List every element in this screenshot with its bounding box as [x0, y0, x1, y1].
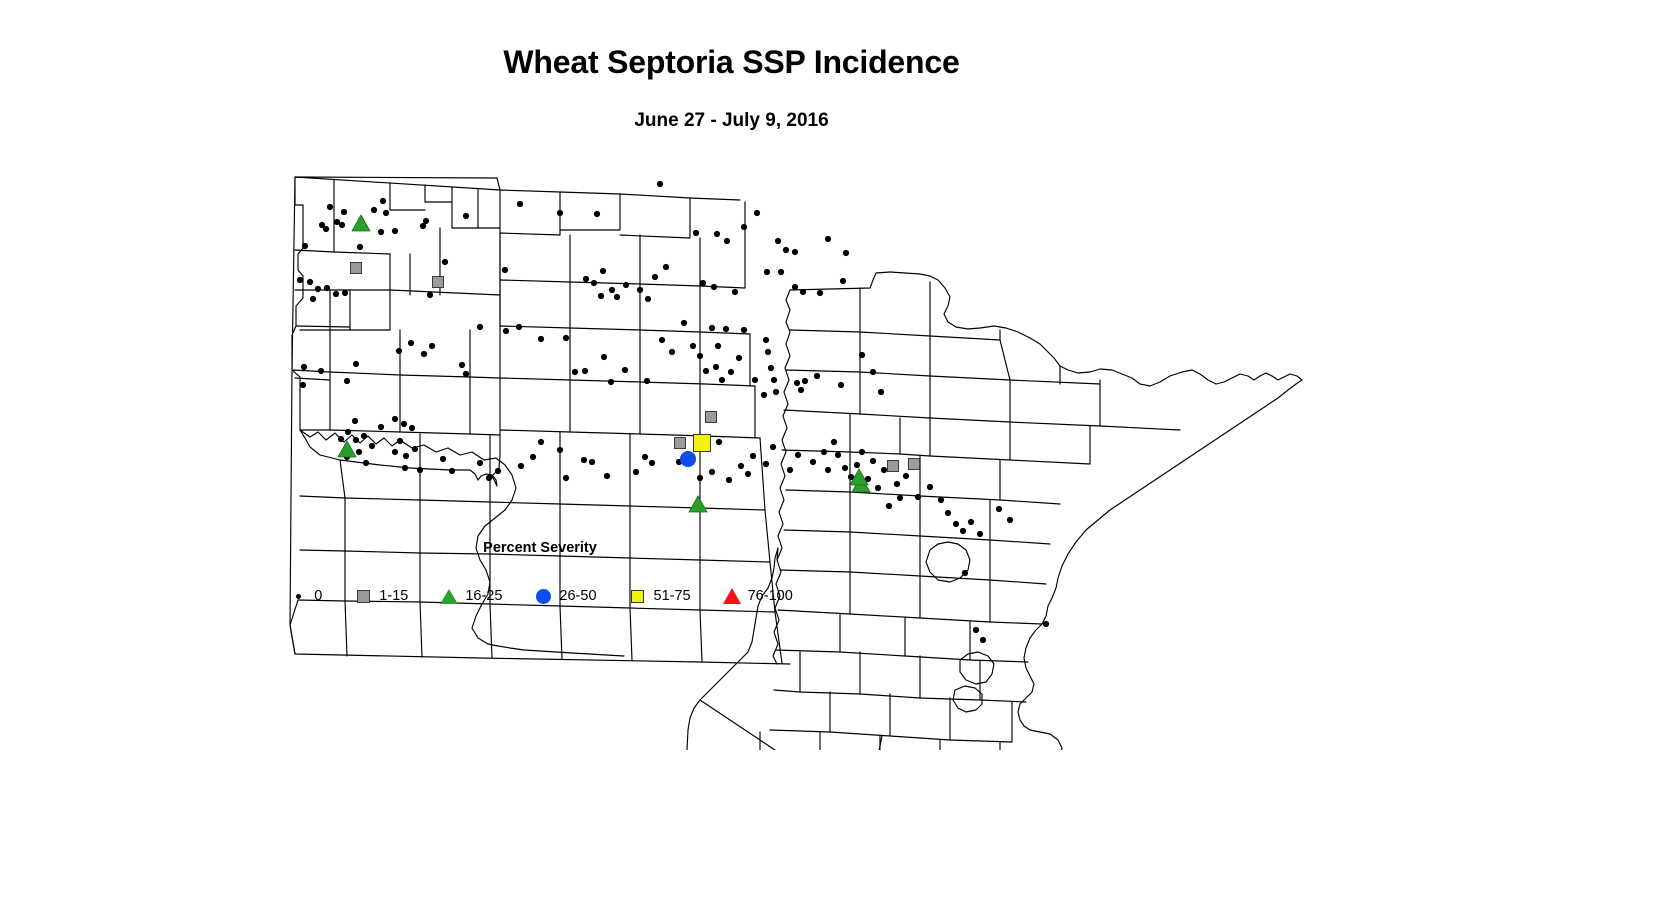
map-marker-0[interactable]	[854, 462, 860, 468]
map-marker-0[interactable]	[765, 349, 771, 355]
map-marker-0[interactable]	[736, 355, 742, 361]
map-marker-0[interactable]	[380, 198, 386, 204]
map-marker-0[interactable]	[297, 277, 303, 283]
map-marker-0[interactable]	[817, 290, 823, 296]
map-marker-0[interactable]	[608, 379, 614, 385]
map-marker-0[interactable]	[333, 291, 339, 297]
map-marker-0[interactable]	[681, 320, 687, 326]
county-boundaries	[290, 177, 1302, 750]
map-marker-0[interactable]	[968, 519, 974, 525]
map-marker-0[interactable]	[754, 210, 760, 216]
map-marker-0[interactable]	[397, 438, 403, 444]
map-marker-0[interactable]	[838, 382, 844, 388]
map-marker-0[interactable]	[773, 389, 779, 395]
map-marker-0[interactable]	[741, 224, 747, 230]
map-marker-0[interactable]	[724, 238, 730, 244]
map-marker-0[interactable]	[962, 570, 968, 576]
map-marker-0[interactable]	[792, 249, 798, 255]
map-marker-0[interactable]	[344, 378, 350, 384]
map-marker-0[interactable]	[945, 510, 951, 516]
map-marker-0[interactable]	[897, 495, 903, 501]
map-marker-0[interactable]	[341, 209, 347, 215]
dot-icon	[287, 586, 309, 606]
map-marker-0[interactable]	[315, 286, 321, 292]
map-marker-16-25[interactable]	[352, 215, 370, 231]
map-marker-0[interactable]	[572, 369, 578, 375]
map-marker-0[interactable]	[814, 373, 820, 379]
map-marker-0[interactable]	[412, 446, 418, 452]
map-marker-0[interactable]	[709, 325, 715, 331]
map-marker-0[interactable]	[392, 449, 398, 455]
map-marker-0[interactable]	[324, 285, 330, 291]
map-marker-0[interactable]	[825, 236, 831, 242]
map-marker-0[interactable]	[697, 475, 703, 481]
map-marker-0[interactable]	[633, 469, 639, 475]
map-marker-0[interactable]	[338, 436, 344, 442]
map-marker-0[interactable]	[738, 463, 744, 469]
legend-item-76-100[interactable]: 76-100	[721, 586, 793, 606]
legend-item-label: 0	[314, 588, 322, 604]
map-marker-1-15[interactable]	[706, 412, 717, 423]
map-marker-0[interactable]	[301, 364, 307, 370]
map-marker-0[interactable]	[423, 218, 429, 224]
map-marker-0[interactable]	[403, 453, 409, 459]
map-marker-0[interactable]	[842, 465, 848, 471]
map-marker-0[interactable]	[825, 467, 831, 473]
map-marker-0[interactable]	[787, 467, 793, 473]
map-marker-0[interactable]	[583, 276, 589, 282]
legend-item-label: 51-75	[654, 588, 691, 604]
map-marker-0[interactable]	[378, 229, 384, 235]
map-marker-0[interactable]	[352, 418, 358, 424]
map-marker-0[interactable]	[530, 454, 536, 460]
map-marker-0[interactable]	[764, 269, 770, 275]
map-marker-0[interactable]	[345, 429, 351, 435]
map-marker-0[interactable]	[709, 469, 715, 475]
map-marker-0[interactable]	[463, 371, 469, 377]
map-marker-0[interactable]	[915, 494, 921, 500]
map-marker-0[interactable]	[716, 439, 722, 445]
map-marker-0[interactable]	[557, 447, 563, 453]
map-marker-0[interactable]	[723, 326, 729, 332]
map-marker-0[interactable]	[408, 340, 414, 346]
map-marker-0[interactable]	[1043, 621, 1049, 627]
map-marker-0[interactable]	[881, 467, 887, 473]
map-marker-0[interactable]	[417, 467, 423, 473]
map-marker-0[interactable]	[622, 367, 628, 373]
map-marker-0[interactable]	[953, 521, 959, 527]
map-marker-0[interactable]	[645, 296, 651, 302]
map-marker-0[interactable]	[594, 211, 600, 217]
map-marker-0[interactable]	[518, 463, 524, 469]
map-marker-0[interactable]	[728, 369, 734, 375]
map-marker-0[interactable]	[614, 294, 620, 300]
map-marker-0[interactable]	[601, 354, 607, 360]
map-marker-0[interactable]	[383, 210, 389, 216]
map-marker-0[interactable]	[693, 230, 699, 236]
map-marker-0[interactable]	[652, 274, 658, 280]
map-marker-26-50[interactable]	[680, 451, 696, 467]
map-marker-0[interactable]	[798, 387, 804, 393]
legend-item-label: 1-15	[379, 588, 408, 604]
map-marker-0[interactable]	[843, 250, 849, 256]
map-marker-0[interactable]	[903, 473, 909, 479]
square-yellow-icon	[627, 586, 649, 606]
map-marker-0[interactable]	[486, 475, 492, 481]
map-marker-51-75[interactable]	[694, 435, 711, 452]
square-gray-icon	[352, 586, 374, 606]
map-marker-0[interactable]	[396, 348, 402, 354]
map-marker-0[interactable]	[703, 368, 709, 374]
map-marker-0[interactable]	[732, 289, 738, 295]
map-marker-0[interactable]	[870, 369, 876, 375]
map-marker-0[interactable]	[449, 468, 455, 474]
map-marker-0[interactable]	[878, 389, 884, 395]
map-marker-1-15[interactable]	[675, 438, 686, 449]
legend-title: Percent Severity	[0, 540, 1080, 556]
map-marker-0[interactable]	[302, 243, 308, 249]
legend-item-label: 76-100	[748, 588, 793, 604]
map-marker-0[interactable]	[477, 460, 483, 466]
circle-blue-icon	[532, 586, 554, 606]
map-marker-0[interactable]	[768, 365, 774, 371]
map-marker-0[interactable]	[356, 449, 362, 455]
map-marker-1-15[interactable]	[433, 277, 444, 288]
map-marker-0[interactable]	[429, 343, 435, 349]
map-marker-0[interactable]	[563, 475, 569, 481]
map-marker-0[interactable]	[644, 378, 650, 384]
map-marker-0[interactable]	[591, 280, 597, 286]
map-marker-0[interactable]	[310, 296, 316, 302]
map-marker-0[interactable]	[711, 284, 717, 290]
map-container[interactable]	[0, 130, 1400, 750]
map-marker-0[interactable]	[810, 459, 816, 465]
map-marker-0[interactable]	[307, 279, 313, 285]
map-marker-0[interactable]	[409, 425, 415, 431]
page-title: Wheat Septoria SSP Incidence	[0, 44, 1463, 81]
map-marker-0[interactable]	[361, 433, 367, 439]
map-marker-0[interactable]	[980, 637, 986, 643]
map-marker-0[interactable]	[442, 259, 448, 265]
legend-item-1-15[interactable]: 1-15	[352, 586, 408, 606]
map-marker-0[interactable]	[604, 473, 610, 479]
map-marker-0[interactable]	[792, 284, 798, 290]
map-marker-0[interactable]	[318, 368, 324, 374]
map-marker-0[interactable]	[938, 497, 944, 503]
map-marker-0[interactable]	[392, 416, 398, 422]
map-marker-0[interactable]	[339, 222, 345, 228]
map-marker-0[interactable]	[353, 437, 359, 443]
legend-item-51-75[interactable]: 51-75	[627, 586, 691, 606]
map-marker-0[interactable]	[503, 328, 509, 334]
map-marker-0[interactable]	[516, 324, 522, 330]
map-marker-0[interactable]	[750, 453, 756, 459]
legend-item-label: 16-25	[465, 588, 502, 604]
map-marker-0[interactable]	[363, 460, 369, 466]
map-marker-0[interactable]	[859, 352, 865, 358]
map-marker-0[interactable]	[875, 485, 881, 491]
map-marker-0[interactable]	[927, 484, 933, 490]
map-marker-0[interactable]	[598, 293, 604, 299]
map-marker-0[interactable]	[323, 226, 329, 232]
map-marker-0[interactable]	[459, 362, 465, 368]
map-marker-0[interactable]	[795, 452, 801, 458]
map-marker-0[interactable]	[996, 506, 1002, 512]
map-marker-0[interactable]	[783, 247, 789, 253]
map-marker-0[interactable]	[715, 343, 721, 349]
map-marker-0[interactable]	[775, 238, 781, 244]
map-marker-0[interactable]	[1007, 517, 1013, 523]
map-marker-0[interactable]	[609, 287, 615, 293]
map-marker-0[interactable]	[327, 204, 333, 210]
map-marker-0[interactable]	[581, 457, 587, 463]
map-marker-1-15[interactable]	[351, 263, 362, 274]
map-marker-0[interactable]	[763, 461, 769, 467]
map-marker-0[interactable]	[623, 282, 629, 288]
map-marker-0[interactable]	[300, 382, 306, 388]
map-marker-0[interactable]	[649, 460, 655, 466]
map-marker-0[interactable]	[642, 454, 648, 460]
map-marker-0[interactable]	[378, 424, 384, 430]
legend-item-26-50[interactable]: 26-50	[532, 586, 596, 606]
map-marker-0[interactable]	[726, 477, 732, 483]
map-marker-0[interactable]	[714, 231, 720, 237]
map-marker-0[interactable]	[659, 337, 665, 343]
map-marker-0[interactable]	[771, 377, 777, 383]
map-marker-0[interactable]	[778, 269, 784, 275]
map-marker-0[interactable]	[700, 280, 706, 286]
map-marker-0[interactable]	[563, 335, 569, 341]
map-marker-0[interactable]	[697, 353, 703, 359]
map-marker-0[interactable]	[690, 343, 696, 349]
map-marker-0[interactable]	[582, 368, 588, 374]
map-marker-0[interactable]	[800, 289, 806, 295]
map-marker-1-15[interactable]	[888, 461, 899, 472]
map-marker-0[interactable]	[557, 210, 563, 216]
map-marker-0[interactable]	[342, 290, 348, 296]
map-marker-0[interactable]	[495, 468, 501, 474]
map-marker-0[interactable]	[745, 471, 751, 477]
disease-markers[interactable]	[297, 181, 1049, 643]
map-marker-0[interactable]	[401, 421, 407, 427]
map-marker-0[interactable]	[463, 213, 469, 219]
map-marker-0[interactable]	[835, 452, 841, 458]
map-marker-0[interactable]	[794, 380, 800, 386]
map-marker-0[interactable]	[421, 351, 427, 357]
map-marker-0[interactable]	[886, 503, 892, 509]
map-marker-0[interactable]	[831, 439, 837, 445]
map-marker-0[interactable]	[517, 201, 523, 207]
legend-item-16-25[interactable]: 16-25	[438, 586, 502, 606]
map-marker-0[interactable]	[427, 292, 433, 298]
map-marker-0[interactable]	[371, 207, 377, 213]
map-marker-0[interactable]	[973, 627, 979, 633]
map-marker-0[interactable]	[357, 244, 363, 250]
legend-items: 01-1516-2526-5051-7576-100	[0, 586, 1080, 606]
triangle-red-icon	[721, 586, 743, 606]
map-marker-0[interactable]	[402, 465, 408, 471]
map-marker-0[interactable]	[770, 444, 776, 450]
map-marker-0[interactable]	[870, 458, 876, 464]
map-marker-0[interactable]	[353, 361, 359, 367]
map-marker-1-15[interactable]	[909, 459, 920, 470]
legend-item-label: 26-50	[559, 588, 596, 604]
map-marker-0[interactable]	[761, 392, 767, 398]
map-marker-0[interactable]	[589, 459, 595, 465]
page-subtitle: June 27 - July 9, 2016	[0, 110, 1463, 132]
map-marker-0[interactable]	[960, 528, 966, 534]
choropleth-map[interactable]	[0, 130, 1400, 750]
map-marker-0[interactable]	[894, 481, 900, 487]
map-marker-0[interactable]	[663, 264, 669, 270]
map-marker-0[interactable]	[669, 349, 675, 355]
map-marker-0[interactable]	[369, 443, 375, 449]
map-marker-0[interactable]	[741, 327, 747, 333]
map-marker-0[interactable]	[859, 449, 865, 455]
map-marker-0[interactable]	[752, 377, 758, 383]
map-marker-16-25[interactable]	[338, 441, 356, 457]
map-marker-0[interactable]	[538, 336, 544, 342]
map-marker-16-25[interactable]	[689, 496, 707, 512]
map-marker-0[interactable]	[763, 337, 769, 343]
map-marker-0[interactable]	[713, 364, 719, 370]
map-marker-0[interactable]	[637, 287, 643, 293]
map-marker-0[interactable]	[802, 378, 808, 384]
map-page: Wheat Septoria SSP Incidence June 27 - J…	[0, 0, 1673, 900]
map-marker-0[interactable]	[821, 449, 827, 455]
map-marker-0[interactable]	[840, 278, 846, 284]
map-marker-0[interactable]	[657, 181, 663, 187]
map-marker-0[interactable]	[719, 377, 725, 383]
map-marker-0[interactable]	[502, 267, 508, 273]
triangle-green-icon	[438, 586, 460, 606]
map-marker-0[interactable]	[977, 531, 983, 537]
legend-item-0[interactable]: 0	[287, 586, 322, 606]
map-marker-0[interactable]	[600, 268, 606, 274]
map-marker-0[interactable]	[440, 456, 446, 462]
map-marker-0[interactable]	[392, 228, 398, 234]
map-marker-0[interactable]	[477, 324, 483, 330]
map-marker-0[interactable]	[538, 439, 544, 445]
